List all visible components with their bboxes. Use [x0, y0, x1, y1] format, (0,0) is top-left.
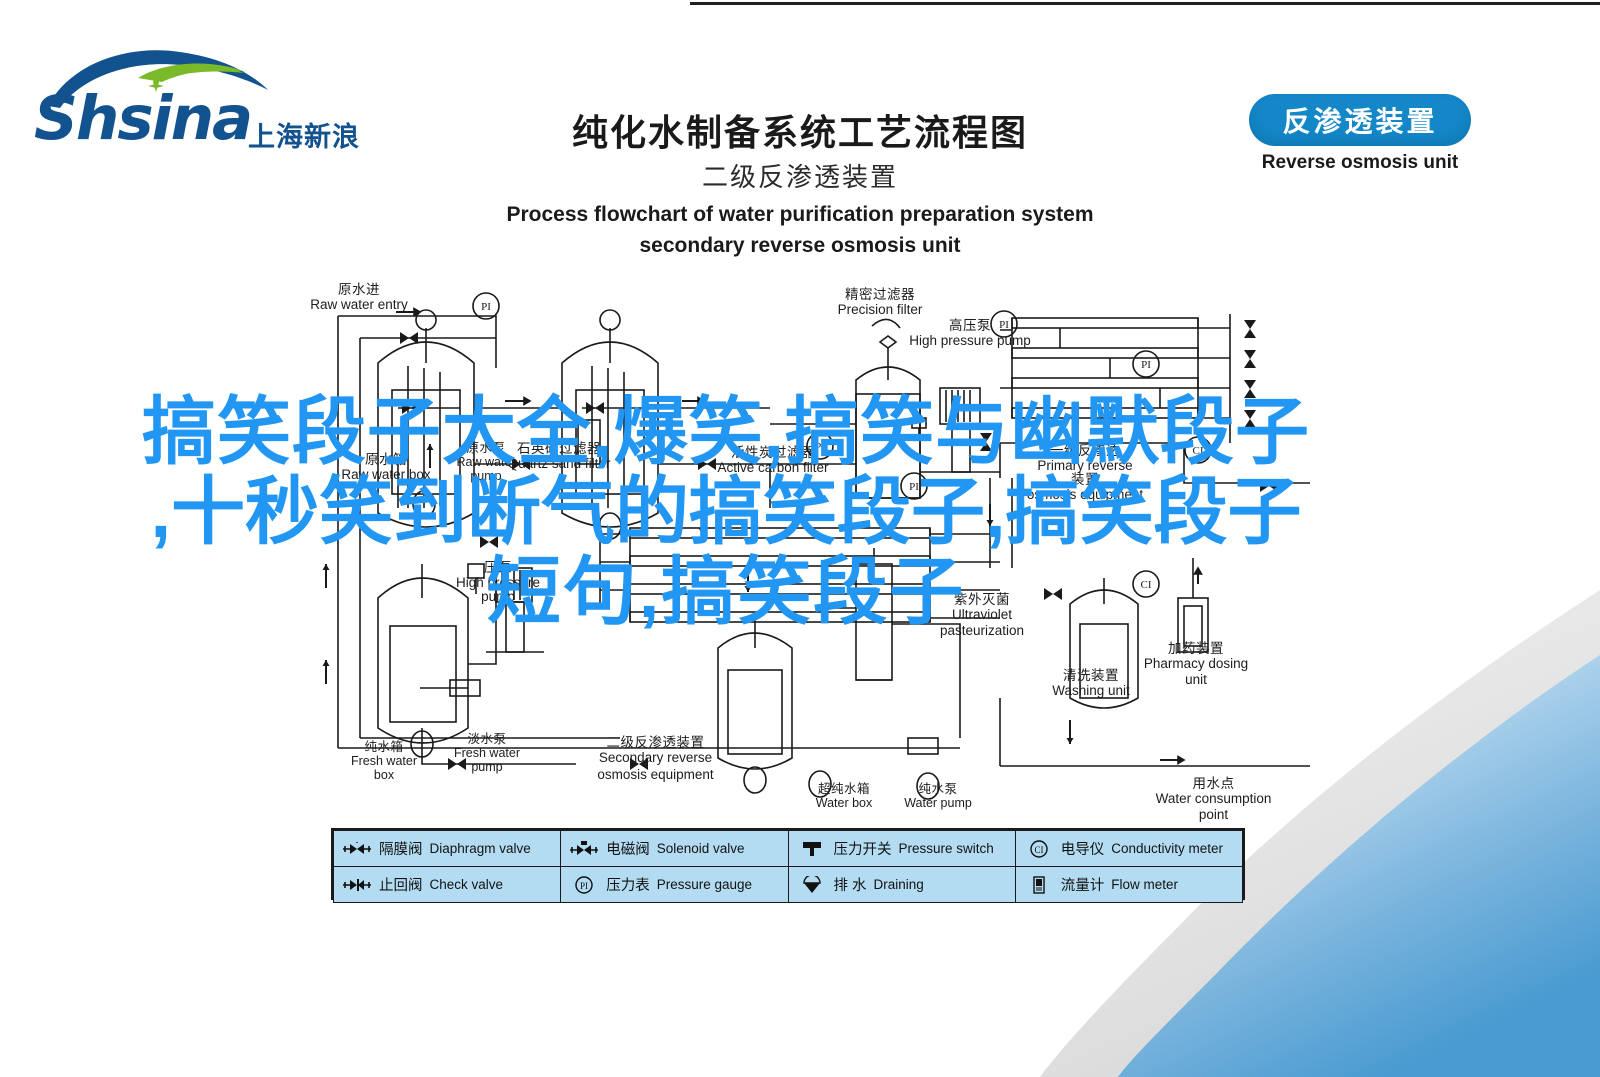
draining-icon [797, 876, 827, 894]
diagram-label-secondary-ro: 二级反渗透装置Secondary reverse [593, 735, 718, 765]
diagram-label-secondary-ro-2: osmosis equipment [593, 767, 718, 782]
legend-label-cn: 流量计 [1061, 874, 1105, 895]
diagram-label-cn: 装置 [1020, 472, 1150, 487]
brand-logo: Shsina 上海新浪 [30, 48, 360, 153]
diagram-label-en: Primary reverse [1020, 458, 1150, 473]
diagram-label-active-carbon-filter: 活性炭过滤器Active carbon filter [714, 445, 832, 475]
legend-label-cn: 压力开关 [834, 838, 892, 859]
legend-label-en: Conductivity meter [1111, 841, 1223, 856]
diagram-label-cn: 原水进 [294, 282, 424, 297]
diagram-label-cn: 用水点 [1146, 776, 1281, 791]
diagram-label-raw-water-entry: 原水进Raw water entry [294, 282, 424, 312]
diagram-label-cn: 超纯水箱 [803, 782, 885, 796]
diagram-label-cn: 纯水泵 [899, 782, 977, 796]
page-subtitle-cn: 二级反渗透装置 [430, 159, 1170, 195]
diagram-label-water-consumption: 用水点Water consumption [1146, 776, 1281, 806]
diagram-label-en: Quartz sand filter [504, 456, 614, 471]
solenoid-valve-icon [569, 840, 599, 858]
diagram-label-high-pressure-pump-2: 压泵High pressure [448, 560, 548, 590]
diagram-label-cn: 清洗装置 [1046, 668, 1136, 683]
diagram-label-en: Raw water box [340, 467, 432, 482]
diagram-label-cn: 高压泵 [905, 318, 1035, 333]
diagram-label-cn: 一级反渗透 [1020, 443, 1150, 458]
pressure-switch-icon [797, 840, 827, 858]
instrument-tag-pi: CI [1141, 579, 1152, 591]
diagram-label-en: Precision filter [823, 302, 937, 317]
unit-badge-cn: 反渗透装置 [1282, 100, 1437, 140]
unit-badge-en: Reverse osmosis unit [1249, 152, 1471, 174]
legend-cell-diaphragm-valve: 隔膜阀 Diaphragm valve [334, 831, 561, 867]
diagram-label-cn: 二级反渗透装置 [593, 735, 718, 750]
svg-text:CI: CI [1034, 845, 1043, 855]
diagram-label-fresh-water-pump: 淡水泵Fresh water pump [447, 732, 527, 774]
legend-cell-draining: 排 水 Draining [788, 867, 1015, 903]
diagram-label-en: Pharmacy dosing [1139, 656, 1253, 671]
legend-label-cn: 电导仪 [1061, 838, 1105, 859]
pressure-gauge-icon: PI [569, 876, 599, 894]
diagram-label-en: Water consumption [1146, 791, 1281, 806]
diagram-label-en: osmosis equipment [593, 767, 718, 782]
diagram-label-en: Water pump [899, 796, 977, 810]
diagram-label-en: Fresh water pump [447, 746, 527, 774]
legend-row: 止回阀 Check valve PI 压力表 Pressure gauge 排 … [334, 867, 1243, 903]
conductivity-meter-icon: CI [1024, 840, 1054, 858]
instrument-tag-pi: PI [909, 481, 919, 493]
diagram-label-cn: 原水箱 [340, 452, 432, 467]
legend-cell-pressure-gauge: PI 压力表 Pressure gauge [561, 867, 788, 903]
diagram-label-en: pasteurization [932, 623, 1032, 638]
legend-label-en: Draining [874, 877, 924, 892]
diagram-label-cn: 紫外灭菌 [932, 592, 1032, 607]
legend-label-en: Diaphragm valve [430, 841, 531, 856]
legend-label-cn: 电磁阀 [606, 838, 650, 859]
diagram-label-washing-unit: 清洗装置Washing unit [1046, 668, 1136, 698]
diagram-label-cn: 精密过滤器 [823, 287, 937, 302]
flow-meter-icon [1024, 876, 1054, 894]
diaphragm-valve-icon [342, 840, 372, 858]
unit-badge-pill: 反渗透装置 [1249, 94, 1471, 146]
diagram-label-cn: 加药装置 [1139, 641, 1253, 656]
diagram-label-cn: 淡水泵 [447, 732, 527, 746]
diagram-label-cn: 石英砂过滤器 [504, 441, 614, 456]
unit-badge: 反渗透装置 Reverse osmosis unit [1249, 94, 1471, 174]
diagram-label-en: High pressure [448, 575, 548, 590]
pressure-switch-icon [797, 840, 827, 858]
legend-label-cn: 止回阀 [379, 874, 423, 895]
diagram-label-water-box: 超纯水箱Water box [803, 782, 885, 810]
title-block: 纯化水制备系统工艺流程图 二级反渗透装置 Process flowchart o… [430, 110, 1170, 261]
diagram-label-quartz-sand-filter: 石英砂过滤器Quartz sand filter [504, 441, 614, 471]
legend-label-en: Flow meter [1111, 877, 1178, 892]
diagram-label-fresh-water-box: 纯水箱Fresh water box [348, 740, 420, 782]
diagram-label-raw-water-box: 原水箱Raw water box [340, 452, 432, 482]
diagram-label-en: point [1146, 807, 1281, 822]
legend-cell-conductivity-meter: CI 电导仪 Conductivity meter [1015, 831, 1242, 867]
draining-icon [797, 876, 827, 894]
legend-label-cn: 排 水 [834, 874, 867, 895]
legend-cell-flow-meter: 流量计 Flow meter [1015, 867, 1242, 903]
instrument-tag-pi: PI [1141, 359, 1151, 371]
legend-cell-pressure-switch: 压力开关 Pressure switch [788, 831, 1015, 867]
legend-cell-check-valve: 止回阀 Check valve [334, 867, 561, 903]
diagram-label-high-pressure-pump-1: 高压泵High pressure pump [905, 318, 1035, 348]
legend-label-en: Pressure gauge [657, 877, 752, 892]
diagram-label-pharmacy-dosing-2: unit [1139, 672, 1253, 687]
page-title-en-line1: Process flowchart of water purification … [430, 200, 1170, 230]
diagram-label-water-consumption-2: point [1146, 807, 1281, 822]
instrument-tag-pi: PI [481, 301, 491, 313]
legend-label-en: Pressure switch [899, 841, 994, 856]
diagram-label-en: Active carbon filter [714, 460, 832, 475]
page-title-en-line2: secondary reverse osmosis unit [430, 231, 1170, 261]
diagram-label-en: Fresh water box [348, 754, 420, 782]
legend-label-en: Check valve [430, 877, 504, 892]
legend-cell-solenoid-valve: 电磁阀 Solenoid valve [561, 831, 788, 867]
slide-canvas: Shsina 上海新浪 纯化水制备系统工艺流程图 二级反渗透装置 Process… [0, 0, 1600, 1077]
diagram-label-precision-filter: 精密过滤器Precision filter [823, 287, 937, 317]
diagram-label-en: High pressure pump [905, 333, 1035, 348]
solenoid-valve-icon [569, 840, 599, 858]
top-divider-rule [690, 2, 1600, 5]
diaphragm-valve-icon [342, 840, 372, 858]
logo-wordmark: Shsina [34, 88, 251, 149]
diagram-label-primary-ro-2: 装置osmosis equipment [1020, 472, 1150, 502]
instrument-tag-ci: CI [1193, 445, 1204, 457]
diagram-label-en: Ultraviolet [932, 607, 1032, 622]
diagram-label-en: pump [448, 589, 548, 604]
diagram-label-water-pump: 纯水泵Water pump [899, 782, 977, 810]
diagram-label-en: unit [1139, 672, 1253, 687]
diagram-label-cn: 活性炭过滤器 [714, 445, 832, 460]
legend-label-cn: 隔膜阀 [379, 838, 423, 859]
diagram-label-high-pressure-pump-2b: pump [448, 589, 548, 604]
diagram-label-en: Washing unit [1046, 683, 1136, 698]
legend-row: 隔膜阀 Diaphragm valve 电磁阀 Solenoid valve 压… [334, 831, 1243, 867]
page-title-cn: 纯化水制备系统工艺流程图 [430, 110, 1170, 155]
legend-label-en: Solenoid valve [657, 841, 745, 856]
diagram-label-uv-pasteurization: 紫外灭菌Ultraviolet [932, 592, 1032, 622]
pressure-gauge-icon: PI [569, 876, 599, 894]
diagram-label-en: Water box [803, 796, 885, 810]
diagram-label-pharmacy-dosing: 加药装置Pharmacy dosing [1139, 641, 1253, 671]
legend-label-cn: 压力表 [606, 874, 650, 895]
diagram-label-uv-pasteurization-2: pasteurization [932, 623, 1032, 638]
diagram-label-primary-ro: 一级反渗透Primary reverse [1020, 443, 1150, 473]
check-valve-icon [342, 876, 372, 894]
flow-meter-icon [1024, 876, 1054, 894]
diagram-label-cn: 纯水箱 [348, 740, 420, 754]
diagram-label-en: osmosis equipment [1020, 487, 1150, 502]
check-valve-icon [342, 876, 372, 894]
logo-chinese-name: 上海新浪 [248, 124, 360, 151]
diagram-label-cn: 压泵 [448, 560, 548, 575]
legend-table: 隔膜阀 Diaphragm valve 电磁阀 Solenoid valve 压… [331, 828, 1245, 900]
diagram-label-en: Raw water entry [294, 297, 424, 312]
svg-text:PI: PI [580, 881, 588, 891]
conductivity-meter-icon: CI [1024, 840, 1054, 858]
diagram-label-en: Secondary reverse [593, 750, 718, 765]
